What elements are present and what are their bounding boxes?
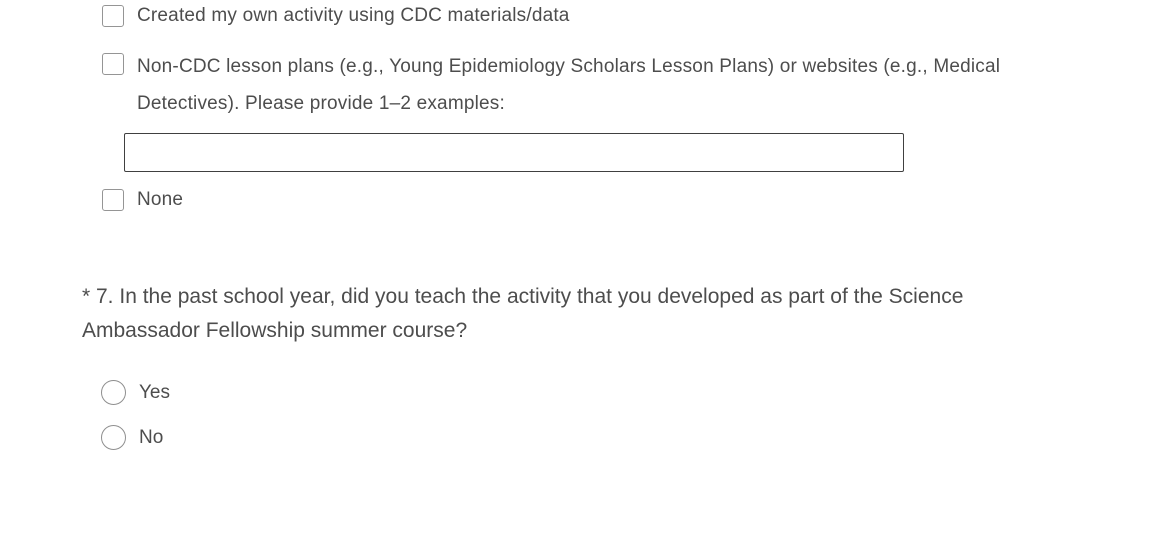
checkbox-option-none[interactable]: None — [0, 184, 1153, 216]
radio-option-yes[interactable]: Yes — [0, 380, 1153, 405]
examples-text-input[interactable] — [124, 133, 904, 172]
spacer-after-first-option — [0, 32, 1153, 48]
spacer-between-radios — [0, 405, 1153, 425]
question-7-title: * 7. In the past school year, did you te… — [82, 280, 1057, 348]
spacer-after-input — [0, 172, 1153, 184]
spacer-before-question-7 — [0, 216, 1153, 280]
checkbox-option-created-own-activity[interactable]: Created my own activity using CDC materi… — [0, 0, 1153, 32]
checkbox-option-non-cdc-lesson-plans[interactable]: Non-CDC lesson plans (e.g., Young Epidem… — [0, 48, 1153, 122]
radio-icon-yes[interactable] — [101, 380, 126, 405]
radio-label-no: No — [126, 425, 163, 450]
checkbox-label-created-own-activity: Created my own activity using CDC materi… — [124, 0, 570, 32]
radio-icon-no[interactable] — [101, 425, 126, 450]
checkbox-label-non-cdc-lesson-plans: Non-CDC lesson plans (e.g., Young Epidem… — [124, 48, 1027, 122]
question-7-block: * 7. In the past school year, did you te… — [0, 280, 1153, 348]
spacer-after-question-7 — [0, 348, 1153, 380]
examples-input-container — [0, 122, 1153, 172]
checkbox-icon-created-own-activity[interactable] — [102, 5, 124, 27]
survey-page: Created my own activity using CDC materi… — [0, 0, 1153, 552]
radio-option-no[interactable]: No — [0, 425, 1153, 450]
checkbox-label-none: None — [124, 184, 183, 216]
checkbox-icon-non-cdc-lesson-plans[interactable] — [102, 53, 124, 75]
radio-label-yes: Yes — [126, 380, 170, 405]
checkbox-icon-none[interactable] — [102, 189, 124, 211]
